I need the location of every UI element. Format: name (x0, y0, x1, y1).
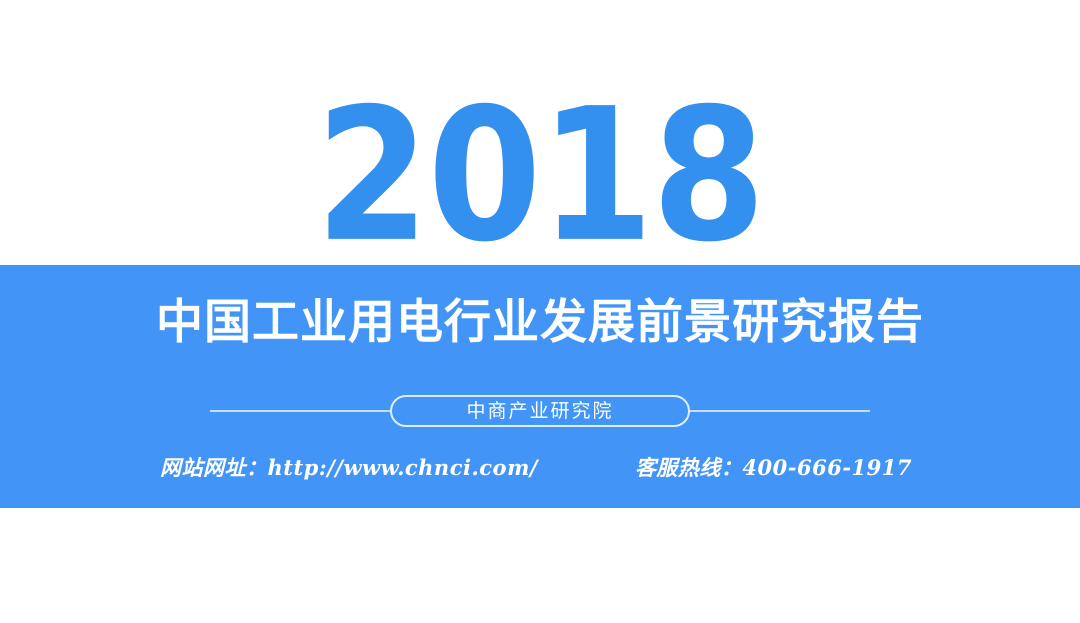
publisher-badge-row: 中商产业研究院 (0, 393, 1080, 429)
report-cover: 2018 中国工业用电行业发展前景研究报告 中商产业研究院 网站网址：http:… (0, 0, 1080, 623)
year-text: 2018 (316, 84, 764, 267)
service-hotline: 客服热线：400-666-1917 (635, 457, 912, 478)
publisher-badge: 中商产业研究院 (390, 395, 690, 427)
year-heading: 2018 (0, 96, 1080, 256)
title-banner: 中国工业用电行业发展前景研究报告 中商产业研究院 网站网址：http://www… (0, 265, 1080, 508)
divider-line-right (690, 410, 870, 412)
page-title: 中国工业用电行业发展前景研究报告 (0, 299, 1080, 346)
website-url[interactable]: 网站网址：http://www.chnci.com/ (160, 457, 538, 478)
publisher-badge-label: 中商产业研究院 (466, 402, 613, 421)
contact-row: 网站网址：http://www.chnci.com/ 客服热线：400-666-… (160, 451, 920, 483)
divider-line-left (210, 410, 390, 412)
